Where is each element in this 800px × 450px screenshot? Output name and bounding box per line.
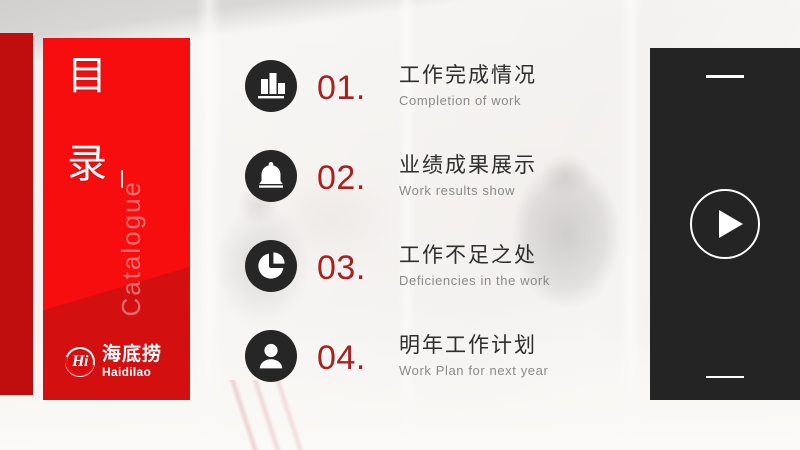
presentation-slide: 目 录 Catalogue Hi 海底捞 Haidilao: [0, 0, 800, 450]
haidilao-logo: Hi 海底捞 Haidilao: [65, 345, 162, 378]
agenda-item-title-en: Deficiencies in the work: [399, 273, 550, 288]
agenda-item-text: 工作完成情况 Completion of work: [399, 62, 537, 108]
agenda-item-title-cn: 工作不足之处: [399, 242, 550, 268]
user-icon: [245, 330, 297, 382]
agenda-item-title-en: Work Plan for next year: [399, 363, 548, 378]
agenda-item-number: 02.: [317, 161, 395, 195]
haidilao-logo-mark-icon: Hi: [65, 347, 95, 377]
agenda-item-title-cn: 明年工作计划: [399, 332, 548, 358]
agenda-item-text: 业绩成果展示 Work results show: [399, 152, 537, 198]
catalogue-title-cn-char2: 录: [59, 144, 115, 184]
agenda-item-text: 工作不足之处 Deficiencies in the work: [399, 242, 550, 288]
catalogue-title-cn-char1: 目: [59, 56, 115, 96]
catalogue-title-en: Catalogue: [116, 180, 147, 317]
catalogue-panel: 目 录 Catalogue Hi 海底捞 Haidilao: [43, 38, 190, 400]
agenda-item-04[interactable]: 04. 明年工作计划 Work Plan for next year: [245, 328, 645, 418]
agenda-item-02[interactable]: 02. 业绩成果展示 Work results show: [245, 148, 645, 238]
agenda-list: 01. 工作完成情况 Completion of work 02. 业绩成果展示…: [245, 58, 645, 418]
agenda-item-03[interactable]: 03. 工作不足之处 Deficiencies in the work: [245, 238, 645, 328]
haidilao-logo-en: Haidilao: [102, 366, 162, 378]
play-icon[interactable]: [690, 189, 760, 259]
left-accent-bar: [0, 33, 33, 395]
bar-chart-icon: [245, 60, 297, 112]
media-panel: [650, 48, 800, 400]
haidilao-logo-cn: 海底捞: [102, 345, 162, 364]
agenda-item-title-en: Completion of work: [399, 93, 537, 108]
divider-dash-bottom: [706, 376, 744, 379]
agenda-item-title-cn: 业绩成果展示: [399, 152, 537, 178]
agenda-item-title-cn: 工作完成情况: [399, 62, 537, 88]
agenda-item-number: 04.: [317, 341, 395, 375]
haidilao-logo-text: 海底捞 Haidilao: [102, 345, 162, 378]
pie-chart-icon: [245, 240, 297, 292]
agenda-item-text: 明年工作计划 Work Plan for next year: [399, 332, 548, 378]
agenda-item-01[interactable]: 01. 工作完成情况 Completion of work: [245, 58, 645, 148]
bell-icon: [245, 150, 297, 202]
agenda-item-number: 01.: [317, 71, 395, 105]
divider-dash-top: [706, 75, 744, 78]
agenda-item-title-en: Work results show: [399, 183, 537, 198]
catalogue-title-cn: 目 录: [59, 56, 115, 184]
haidilao-logo-hi-text: Hi: [67, 349, 93, 375]
agenda-item-number: 03.: [317, 251, 395, 285]
